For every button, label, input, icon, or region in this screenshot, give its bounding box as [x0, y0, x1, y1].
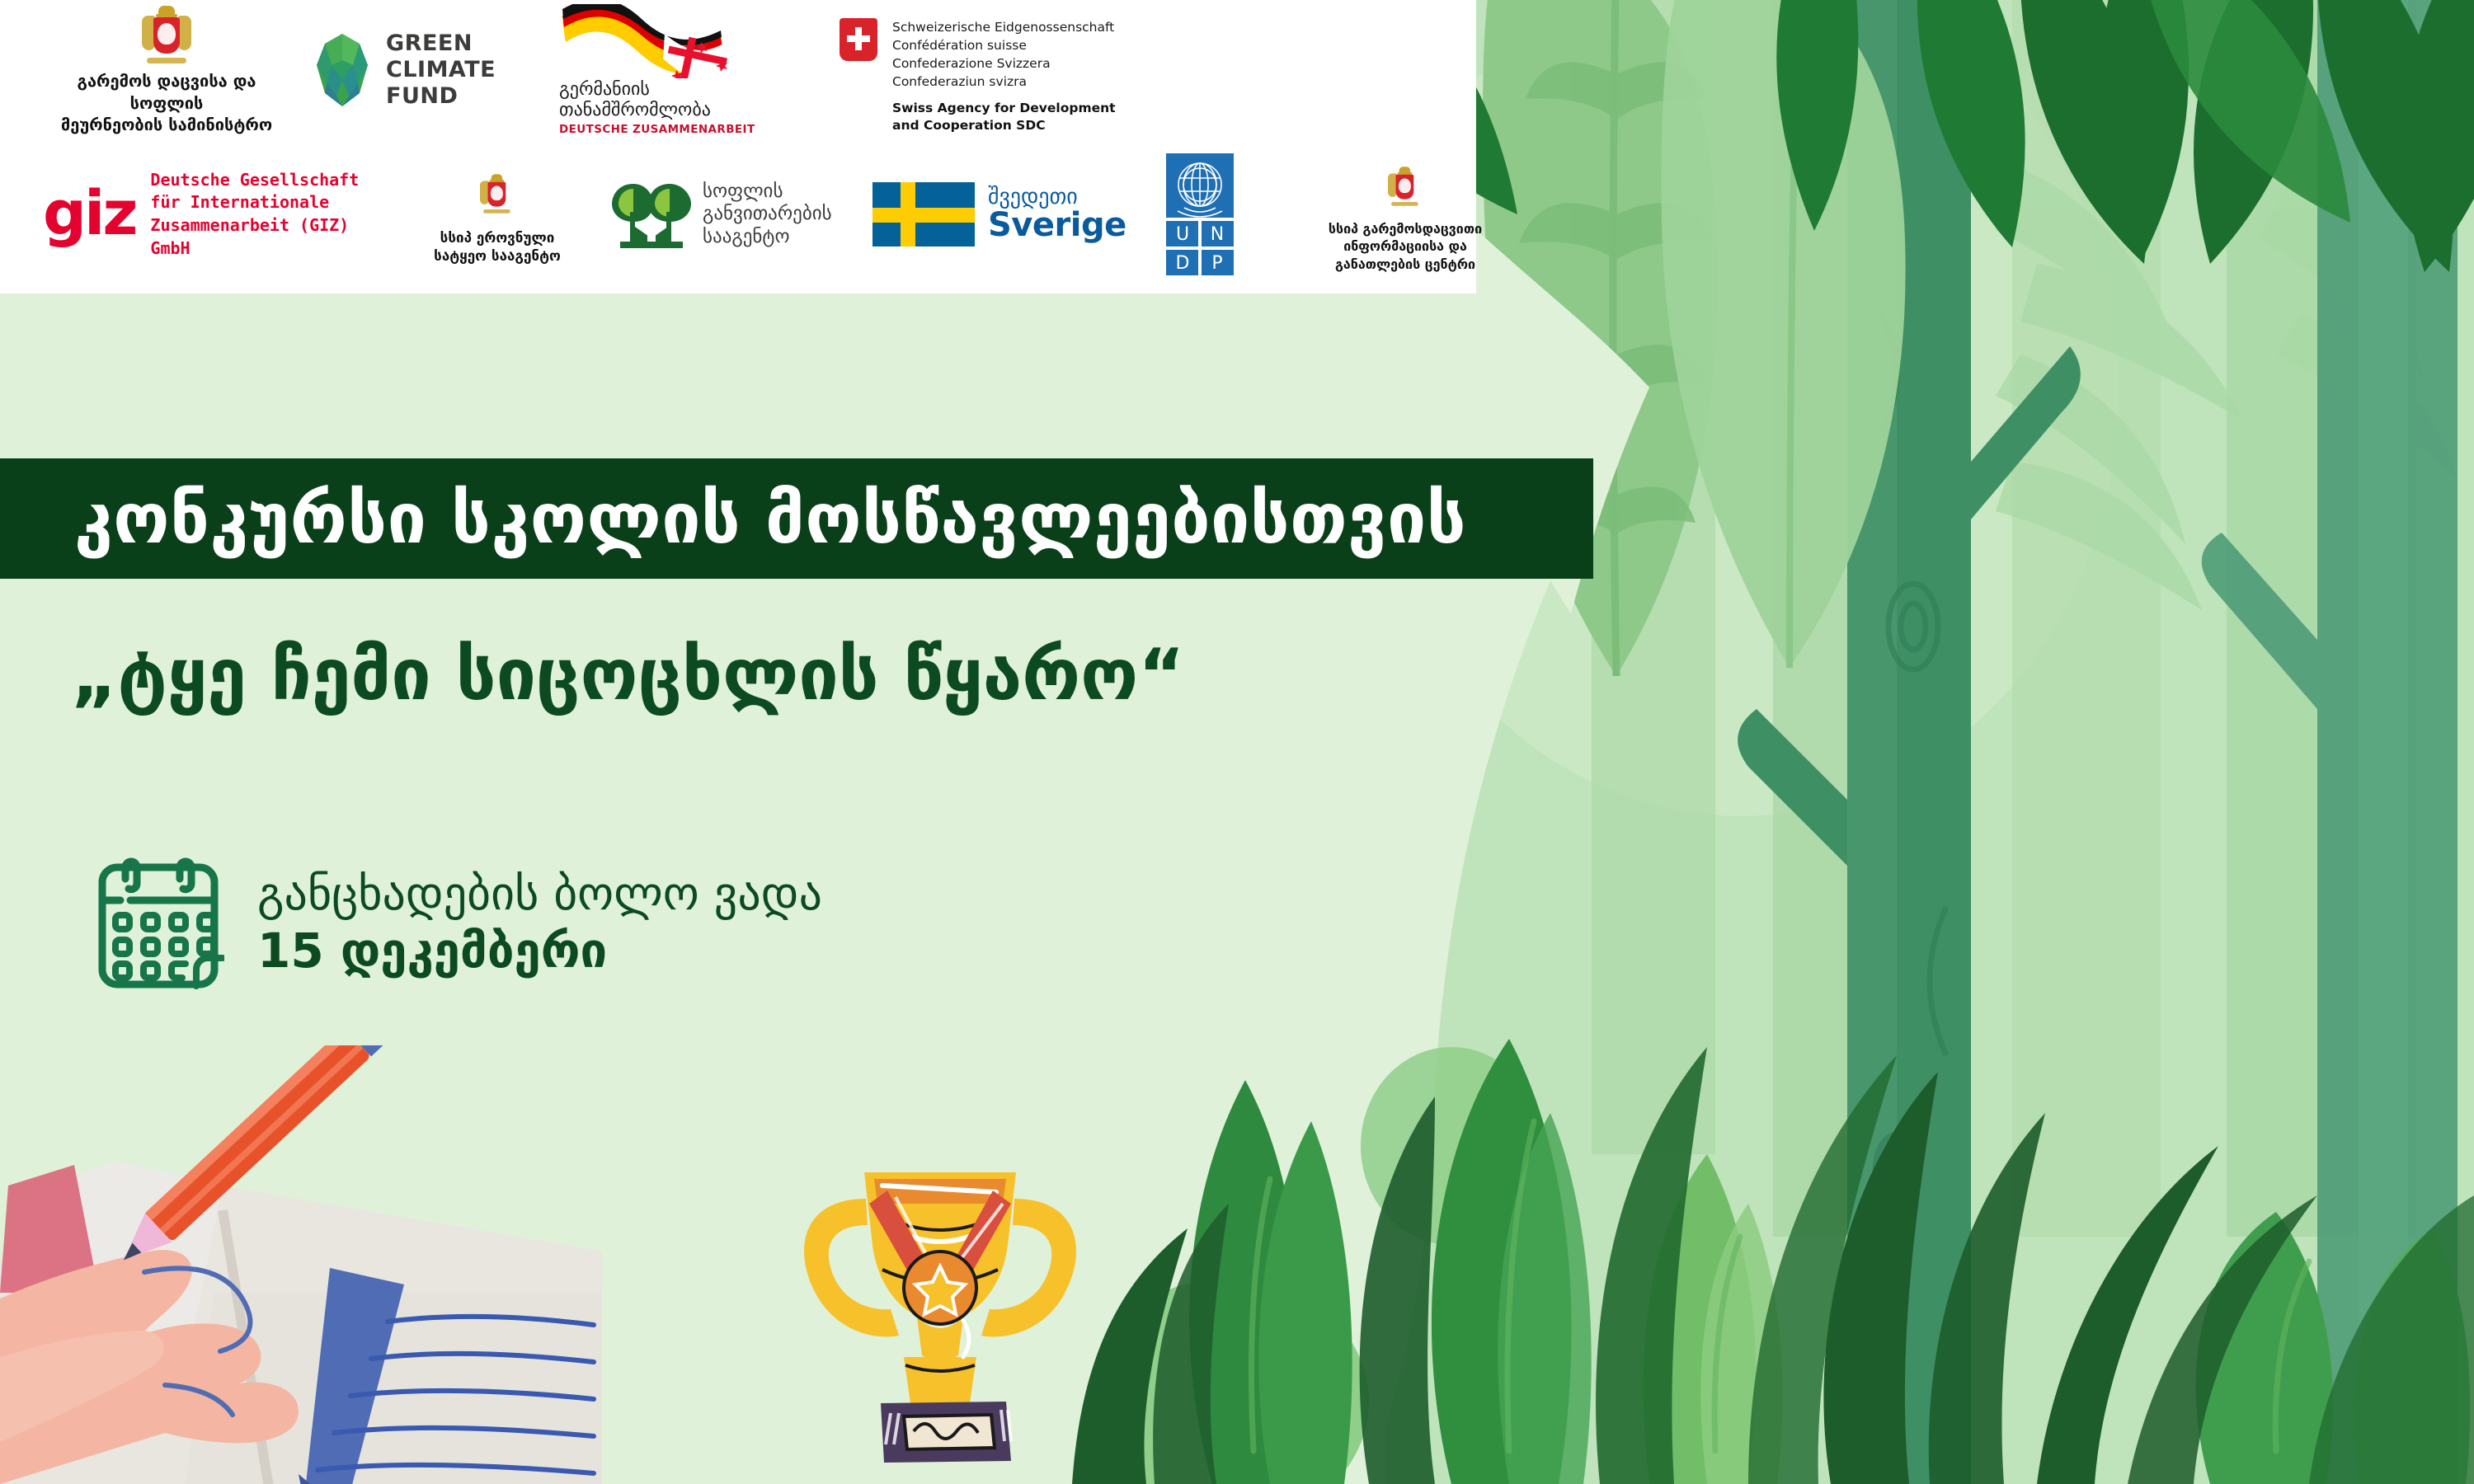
logo-swiss-confederation-names: Schweizerische Eidgenossenschaft Confédé… [892, 18, 1116, 91]
svg-text:U: U [1176, 224, 1189, 245]
logo-rural-development-agency: სოფლის განვითარების სააგენტო [612, 179, 851, 250]
germany-georgia-flag-ribbon-icon [559, 4, 732, 78]
logo-environmental-information-centre: სსიპ გარემოსდაცვითი ინფორმაციისა და განა… [1290, 156, 1521, 272]
logo-german-cooperation: გერმანიის თანამშრომლობა DEUTSCHE ZUSAMME… [559, 4, 782, 135]
logo-forestry-agency-caption: სსიპ ეროვნული სატყეო სააგენტო [434, 229, 561, 265]
logo-environmental-centre-caption: სსიპ გარემოსდაცვითი ინფორმაციისა და განა… [1329, 220, 1482, 272]
logo-german-cooperation-caption-de: DEUTSCHE ZUSAMMENARBEIT [559, 123, 755, 136]
logo-sweden-caption-en: Sverige [988, 208, 1126, 242]
svg-text:P: P [1211, 253, 1222, 274]
calendar-icon [92, 854, 224, 993]
green-gem-icon [312, 32, 373, 108]
logo-swiss-agency-sdc: Schweizerische Eidgenossenschaft Confédé… [840, 7, 1202, 134]
headline-text: კონკურსი სკოლის მოსწავლეებისთვის [0, 484, 1466, 553]
georgia-coat-of-arms-icon [1388, 166, 1412, 207]
logo-german-cooperation-caption-ka: გერმანიის თანამშრომლობა [559, 80, 711, 120]
headline-bar: კონკურსი სკოლის მოსწავლეებისთვის [0, 458, 1593, 579]
svg-text:N: N [1211, 224, 1224, 245]
logo-rural-development-caption: სოფლის განვითარების სააგენტო [703, 181, 832, 249]
logo-giz-caption: Deutsche Gesellschaft für Internationale… [150, 169, 389, 260]
deadline-label: განცხადების ბოლო ვადა [257, 869, 822, 920]
logo-sweden-sverige: შვედეთი Sverige [872, 182, 1145, 247]
swiss-cross-shield-icon [840, 18, 877, 61]
deadline-block: განცხადების ბოლო ვადა 15 დეკემბერი [92, 854, 822, 993]
logo-row-1: გარემოს დაცვისა და სოფლის მეურნეობის სამ… [43, 8, 1202, 132]
logo-giz: giz Deutsche Gesellschaft für Internatio… [43, 169, 389, 260]
trophy-illustration [767, 1146, 1113, 1484]
two-trees-house-icon [612, 179, 691, 250]
deadline-date: 15 დეკემბერი [257, 925, 822, 978]
undp-logo-icon: UN DP [1166, 153, 1234, 275]
georgia-coat-of-arms-icon [480, 173, 504, 214]
logo-undp: UN DP [1166, 153, 1273, 275]
poster-canvas: გარემოს დაცვისა და სოფლის მეურნეობის სამ… [0, 0, 2474, 1484]
hand-writing-illustration [0, 1045, 602, 1484]
logo-row-2: giz Deutsche Gesellschaft für Internatio… [43, 157, 1521, 272]
logo-ministry-of-environmental-protection: გარემოს დაცვისა და სოფლის მეურნეობის სამ… [43, 4, 290, 135]
logo-gcf-caption: GREEN CLIMATE FUND [386, 31, 496, 110]
logo-green-climate-fund: GREEN CLIMATE FUND [312, 31, 551, 110]
logo-national-forestry-agency: სსიპ ეროვნული სატყეო სააგენტო [411, 163, 584, 265]
logo-sweden-caption-ka: შვედეთი [988, 186, 1126, 208]
logo-giz-wordmark: giz [43, 190, 135, 238]
logo-ministry-caption: გარემოს დაცვისა და სოფლის მეურნეობის სამ… [43, 70, 290, 135]
subtitle-text: „ტყე ჩემი სიცოცხლის წყარო“ [71, 640, 1555, 711]
partner-logos: გარემოს დაცვისა და სოფლის მეურნეობის სამ… [0, 0, 1476, 294]
svg-text:D: D [1176, 253, 1190, 274]
sweden-flag-icon [872, 182, 975, 247]
georgia-coat-of-arms-icon [142, 4, 191, 65]
logo-swiss-agency-name: Swiss Agency for Development and Coopera… [892, 100, 1116, 134]
